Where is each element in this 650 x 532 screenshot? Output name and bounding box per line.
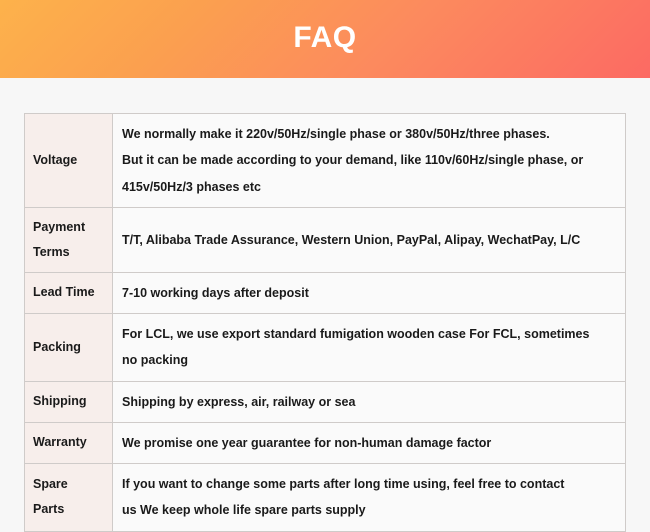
faq-label-line: Warranty <box>33 430 112 455</box>
faq-value-line: no packing <box>122 347 615 373</box>
table-row: WarrantyWe promise one year guarantee fo… <box>25 422 626 463</box>
faq-label-line: Lead Time <box>33 280 112 305</box>
faq-label-cell: Voltage <box>25 114 113 208</box>
faq-value-line: We normally make it 220v/50Hz/single pha… <box>122 121 615 147</box>
faq-value-cell: Shipping by express, air, railway or sea <box>113 381 626 422</box>
faq-label-cell: Warranty <box>25 422 113 463</box>
faq-label-line: Shipping <box>33 389 112 414</box>
faq-value-line: T/T, Alibaba Trade Assurance, Western Un… <box>122 227 615 253</box>
faq-value-cell: We promise one year guarantee for non-hu… <box>113 422 626 463</box>
faq-value-cell: 7-10 working days after deposit <box>113 272 626 313</box>
faq-value-cell: For LCL, we use export standard fumigati… <box>113 314 626 382</box>
faq-value-line: 7-10 working days after deposit <box>122 280 615 306</box>
table-row: VoltageWe normally make it 220v/50Hz/sin… <box>25 114 626 208</box>
table-row: PackingFor LCL, we use export standard f… <box>25 314 626 382</box>
faq-label-cell: Packing <box>25 314 113 382</box>
faq-label-cell: Shipping <box>25 381 113 422</box>
faq-label-line: Payment <box>33 215 112 240</box>
faq-label-line: Packing <box>33 335 112 360</box>
faq-label-cell: SpareParts <box>25 464 113 532</box>
table-row: Lead Time7-10 working days after deposit <box>25 272 626 313</box>
table-row: PaymentTermsT/T, Alibaba Trade Assurance… <box>25 207 626 272</box>
faq-value-line: Shipping by express, air, railway or sea <box>122 389 615 415</box>
faq-table-container: VoltageWe normally make it 220v/50Hz/sin… <box>24 113 626 532</box>
faq-value-line: For LCL, we use export standard fumigati… <box>122 321 615 347</box>
faq-table-body: VoltageWe normally make it 220v/50Hz/sin… <box>25 114 626 532</box>
faq-value-line: If you want to change some parts after l… <box>122 471 615 497</box>
faq-value-cell: We normally make it 220v/50Hz/single pha… <box>113 114 626 208</box>
faq-label-cell: PaymentTerms <box>25 207 113 272</box>
faq-value-cell: If you want to change some parts after l… <box>113 464 626 532</box>
faq-value-cell: T/T, Alibaba Trade Assurance, Western Un… <box>113 207 626 272</box>
faq-table: VoltageWe normally make it 220v/50Hz/sin… <box>24 113 626 532</box>
faq-banner: FAQ <box>0 0 650 78</box>
table-row: ShippingShipping by express, air, railwa… <box>25 381 626 422</box>
faq-label-line: Terms <box>33 240 112 265</box>
faq-label-cell: Lead Time <box>25 272 113 313</box>
faq-label-line: Parts <box>33 497 112 522</box>
faq-label-line: Voltage <box>33 148 112 173</box>
page-title: FAQ <box>293 23 356 55</box>
faq-label-line: Spare <box>33 472 112 497</box>
faq-page: FAQ VoltageWe normally make it 220v/50Hz… <box>0 0 650 522</box>
faq-value-line: But it can be made according to your dem… <box>122 147 615 173</box>
faq-value-line: We promise one year guarantee for non-hu… <box>122 430 615 456</box>
table-row: SparePartsIf you want to change some par… <box>25 464 626 532</box>
faq-value-line: 415v/50Hz/3 phases etc <box>122 174 615 200</box>
faq-value-line: us We keep whole life spare parts supply <box>122 497 615 523</box>
